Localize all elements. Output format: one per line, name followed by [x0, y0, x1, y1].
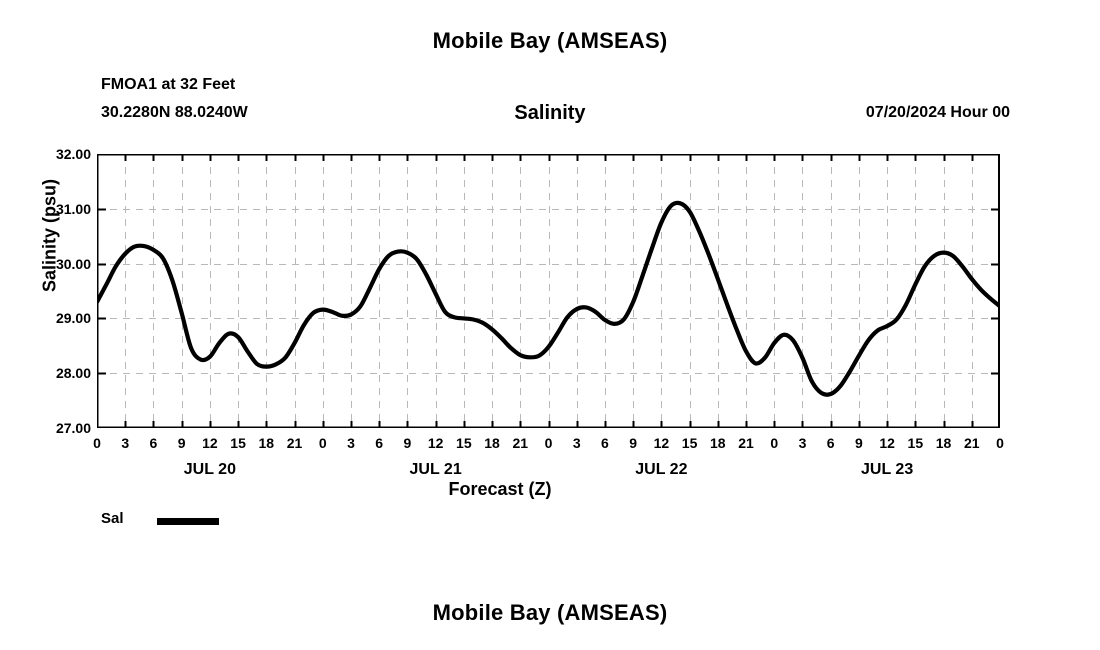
- y-tick-label: 31.00: [29, 202, 91, 216]
- x-tick-label: 9: [167, 436, 197, 450]
- x-tick-label: 9: [618, 436, 648, 450]
- chart-page: Mobile Bay (AMSEAS) FMOA1 at 32 Feet 30.…: [0, 0, 1100, 650]
- x-tick-label: 0: [82, 436, 112, 450]
- x-tick-label: 3: [110, 436, 140, 450]
- y-tick-label: 30.00: [29, 257, 91, 271]
- x-tick-label: 12: [421, 436, 451, 450]
- x-tick-label: 0: [534, 436, 564, 450]
- x-tick-label: 18: [703, 436, 733, 450]
- x-axis-day-label: JUL 20: [140, 461, 280, 479]
- x-tick-label: 0: [985, 436, 1015, 450]
- x-tick-label: 18: [251, 436, 281, 450]
- x-tick-label: 21: [505, 436, 535, 450]
- x-tick-label: 6: [364, 436, 394, 450]
- chart-svg: [97, 154, 1000, 428]
- y-tick-label: 27.00: [29, 421, 91, 435]
- x-tick-label: 6: [590, 436, 620, 450]
- x-axis-day-label: JUL 21: [366, 461, 506, 479]
- legend-label: Sal: [101, 510, 124, 527]
- y-tick-label: 32.00: [29, 147, 91, 161]
- x-tick-label: 15: [449, 436, 479, 450]
- x-tick-label: 6: [816, 436, 846, 450]
- x-tick-label: 0: [759, 436, 789, 450]
- x-tick-label: 21: [280, 436, 310, 450]
- x-tick-label: 3: [562, 436, 592, 450]
- forecast-datestamp: 07/20/2024 Hour 00: [700, 104, 1010, 122]
- x-tick-label: 18: [929, 436, 959, 450]
- x-tick-label: 21: [957, 436, 987, 450]
- station-name: FMOA1 at 32 Feet: [101, 76, 235, 94]
- x-tick-label: 15: [675, 436, 705, 450]
- x-tick-label: 21: [731, 436, 761, 450]
- x-tick-label: 3: [787, 436, 817, 450]
- x-axis-day-label: JUL 22: [591, 461, 731, 479]
- y-axis-tick-labels: 32.0031.0030.0029.0028.0027.00: [25, 154, 91, 428]
- x-axis-day-labels: JUL 20JUL 21JUL 22JUL 23: [97, 461, 1000, 483]
- x-tick-label: 15: [900, 436, 930, 450]
- x-tick-label: 12: [195, 436, 225, 450]
- x-tick-label: 0: [308, 436, 338, 450]
- x-tick-label: 9: [392, 436, 422, 450]
- variable-title: Salinity: [400, 102, 700, 125]
- legend-line-swatch: [157, 518, 219, 525]
- x-axis-tick-labels: 0369121518210369121518210369121518210369…: [97, 436, 1000, 458]
- x-tick-label: 12: [646, 436, 676, 450]
- x-tick-label: 15: [223, 436, 253, 450]
- x-axis-day-label: JUL 23: [817, 461, 957, 479]
- page-title-top: Mobile Bay (AMSEAS): [0, 28, 1100, 54]
- series-line-sal: [97, 203, 1000, 395]
- x-tick-label: 3: [336, 436, 366, 450]
- page-title-bottom: Mobile Bay (AMSEAS): [0, 600, 1100, 626]
- y-tick-label: 28.00: [29, 366, 91, 380]
- y-tick-label: 29.00: [29, 311, 91, 325]
- x-tick-label: 6: [138, 436, 168, 450]
- x-tick-label: 9: [844, 436, 874, 450]
- station-coordinates: 30.2280N 88.0240W: [101, 104, 248, 122]
- x-tick-label: 18: [477, 436, 507, 450]
- plot-area: [97, 154, 1000, 428]
- x-tick-label: 12: [872, 436, 902, 450]
